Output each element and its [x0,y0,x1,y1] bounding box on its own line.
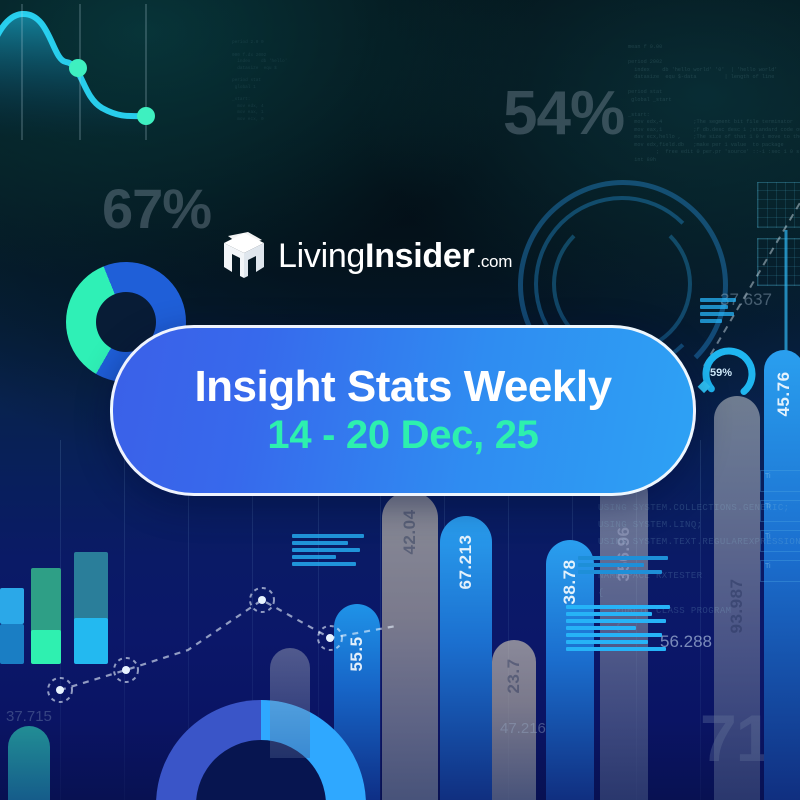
brand-wordmark: LivingInsider.com [278,237,512,276]
stacked-bar-1-top [0,588,24,624]
bar-label: 45.76 [774,371,794,416]
bar-label: 38.78 [560,559,580,604]
bar-label: 67.213 [456,535,476,590]
card-date-range: 14 - 20 Dec, 25 [267,413,538,457]
list-box: Ti [760,470,800,492]
brand-logo: LivingInsider.com [222,232,512,280]
list-box: Ti [760,530,800,552]
list-box: Ti [760,500,800,522]
dashed-scatter-line [30,530,410,710]
promo-graphic: 67% 54% 71% mean f 0.00 period 2002 inde… [0,0,800,800]
bar-67: 67.213 [440,516,492,800]
code-text-block-1: mean f 0.00 period 2002 index db 'hello … [628,44,800,165]
brand-name-bold: Insider [365,237,474,276]
barcode-bars-upper [700,298,736,323]
percent-54-label: 54% [503,78,624,149]
barcode-bars-right [578,556,668,574]
rounded-pill-teal [8,726,50,800]
isometric-house-cube-logo-icon [222,232,266,280]
bar-label: 23.7 [504,658,524,693]
stacked-bar-1-bottom [0,624,24,664]
gauge-59-label: 59% [710,367,732,379]
list-box: Ti [760,560,800,582]
barcode-bars-center [566,605,670,651]
rounded-pill-grey [270,648,310,758]
code-text-block-2: period 2.0 0 000 f.dx 2002 index db 'hel… [232,40,287,123]
value-label-37715: 37.715 [6,708,52,725]
percent-67-label: 67% [102,176,211,241]
brand-name-light: Living [278,237,365,276]
area-line-chart [0,0,230,150]
title-card: Insight Stats Weekly 14 - 20 Dec, 25 [110,325,696,496]
card-title: Insight Stats Weekly [194,364,611,410]
value-label-47216: 47.216 [500,720,546,737]
bar-38: 38.78 [546,540,594,800]
brand-name-tld: .com [476,252,512,272]
